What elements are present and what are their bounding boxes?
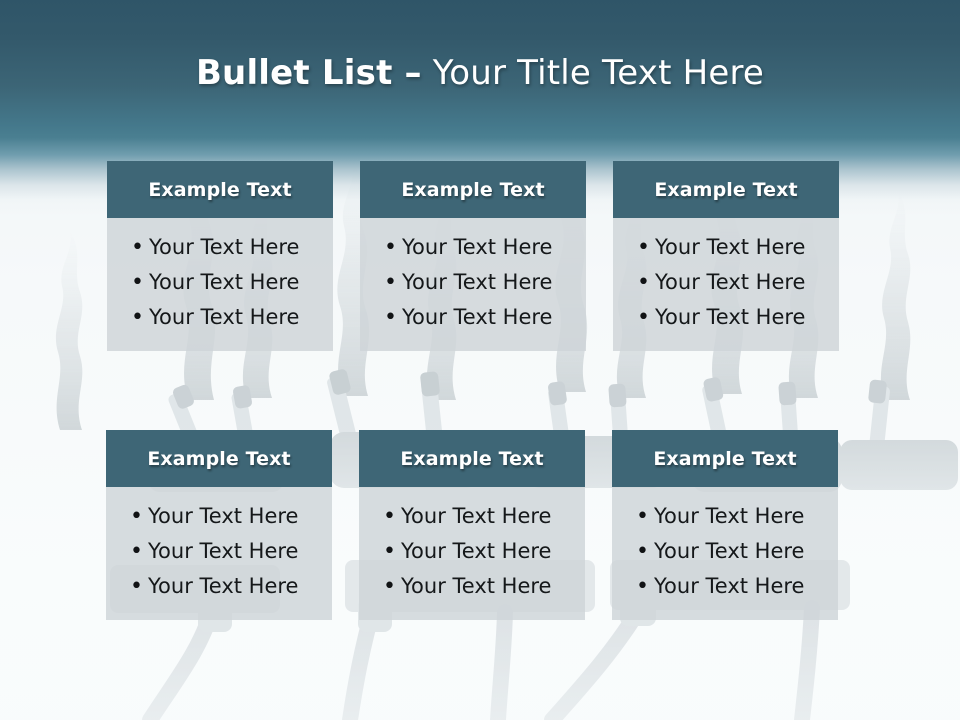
card-header-1: Example Text: [107, 161, 333, 218]
list-item: • Your Text Here: [360, 265, 586, 300]
list-item: • Your Text Here: [360, 230, 586, 265]
bullet-text: Your Text Here: [654, 569, 804, 604]
bullet-dot-icon: •: [131, 300, 149, 335]
list-item: • Your Text Here: [612, 534, 838, 569]
list-item: • Your Text Here: [359, 569, 585, 604]
list-item: • Your Text Here: [107, 300, 333, 335]
bullet-dot-icon: •: [637, 230, 655, 265]
list-item: • Your Text Here: [359, 499, 585, 534]
list-item: • Your Text Here: [613, 230, 839, 265]
bullet-text: Your Text Here: [401, 499, 551, 534]
list-item: • Your Text Here: [612, 569, 838, 604]
card-header-5: Example Text: [359, 430, 585, 487]
bullet-dot-icon: •: [131, 265, 149, 300]
card-body-4: • Your Text Here • Your Text Here • Your…: [106, 487, 332, 620]
bullet-dot-icon: •: [383, 534, 401, 569]
bullet-dot-icon: •: [637, 265, 655, 300]
bullet-text: Your Text Here: [148, 569, 298, 604]
card-body-6: • Your Text Here • Your Text Here • Your…: [612, 487, 838, 620]
bullet-text: Your Text Here: [654, 534, 804, 569]
bullet-dot-icon: •: [636, 569, 654, 604]
page-title: Bullet List – Your Title Text Here: [0, 52, 960, 94]
bullet-card-1[interactable]: Example Text • Your Text Here • Your Tex…: [107, 161, 333, 351]
bullet-card-3[interactable]: Example Text • Your Text Here • Your Tex…: [613, 161, 839, 351]
page-title-light: Your Title Text Here: [433, 53, 764, 93]
list-item: • Your Text Here: [106, 499, 332, 534]
card-header-2: Example Text: [360, 161, 586, 218]
bullet-dot-icon: •: [384, 300, 402, 335]
list-item: • Your Text Here: [613, 300, 839, 335]
bullet-text: Your Text Here: [401, 534, 551, 569]
list-item: • Your Text Here: [360, 300, 586, 335]
list-item: • Your Text Here: [106, 534, 332, 569]
list-item: • Your Text Here: [612, 499, 838, 534]
bullet-card-5[interactable]: Example Text • Your Text Here • Your Tex…: [359, 430, 585, 620]
bullet-dot-icon: •: [636, 534, 654, 569]
bullet-dot-icon: •: [130, 499, 148, 534]
bullet-dot-icon: •: [131, 230, 149, 265]
bullet-text: Your Text Here: [655, 300, 805, 335]
bullet-card-6[interactable]: Example Text • Your Text Here • Your Tex…: [612, 430, 838, 620]
bullet-text: Your Text Here: [148, 499, 298, 534]
bullet-dot-icon: •: [130, 534, 148, 569]
slide-canvas: Bullet List – Your Title Text Here Examp…: [0, 0, 960, 720]
list-item: • Your Text Here: [359, 534, 585, 569]
bullet-text: Your Text Here: [401, 569, 551, 604]
list-item: • Your Text Here: [107, 265, 333, 300]
card-body-3: • Your Text Here • Your Text Here • Your…: [613, 218, 839, 351]
bullet-dot-icon: •: [637, 300, 655, 335]
card-header-3: Example Text: [613, 161, 839, 218]
card-header-6: Example Text: [612, 430, 838, 487]
list-item: • Your Text Here: [106, 569, 332, 604]
bullet-text: Your Text Here: [149, 265, 299, 300]
list-item: • Your Text Here: [107, 230, 333, 265]
bullet-text: Your Text Here: [148, 534, 298, 569]
bullet-text: Your Text Here: [402, 265, 552, 300]
bullet-card-4[interactable]: Example Text • Your Text Here • Your Tex…: [106, 430, 332, 620]
card-body-5: • Your Text Here • Your Text Here • Your…: [359, 487, 585, 620]
bullet-dot-icon: •: [383, 499, 401, 534]
bullet-dot-icon: •: [130, 569, 148, 604]
bullet-dot-icon: •: [384, 230, 402, 265]
bullet-card-2[interactable]: Example Text • Your Text Here • Your Tex…: [360, 161, 586, 351]
bullet-text: Your Text Here: [402, 300, 552, 335]
bullet-text: Your Text Here: [149, 300, 299, 335]
bullet-text: Your Text Here: [149, 230, 299, 265]
bullet-text: Your Text Here: [654, 499, 804, 534]
bullet-text: Your Text Here: [655, 265, 805, 300]
bullet-text: Your Text Here: [655, 230, 805, 265]
card-body-2: • Your Text Here • Your Text Here • Your…: [360, 218, 586, 351]
bullet-dot-icon: •: [383, 569, 401, 604]
bullet-dot-icon: •: [384, 265, 402, 300]
page-title-strong: Bullet List –: [196, 53, 422, 93]
bullet-dot-icon: •: [636, 499, 654, 534]
list-item: • Your Text Here: [613, 265, 839, 300]
card-body-1: • Your Text Here • Your Text Here • Your…: [107, 218, 333, 351]
bullet-text: Your Text Here: [402, 230, 552, 265]
card-header-4: Example Text: [106, 430, 332, 487]
